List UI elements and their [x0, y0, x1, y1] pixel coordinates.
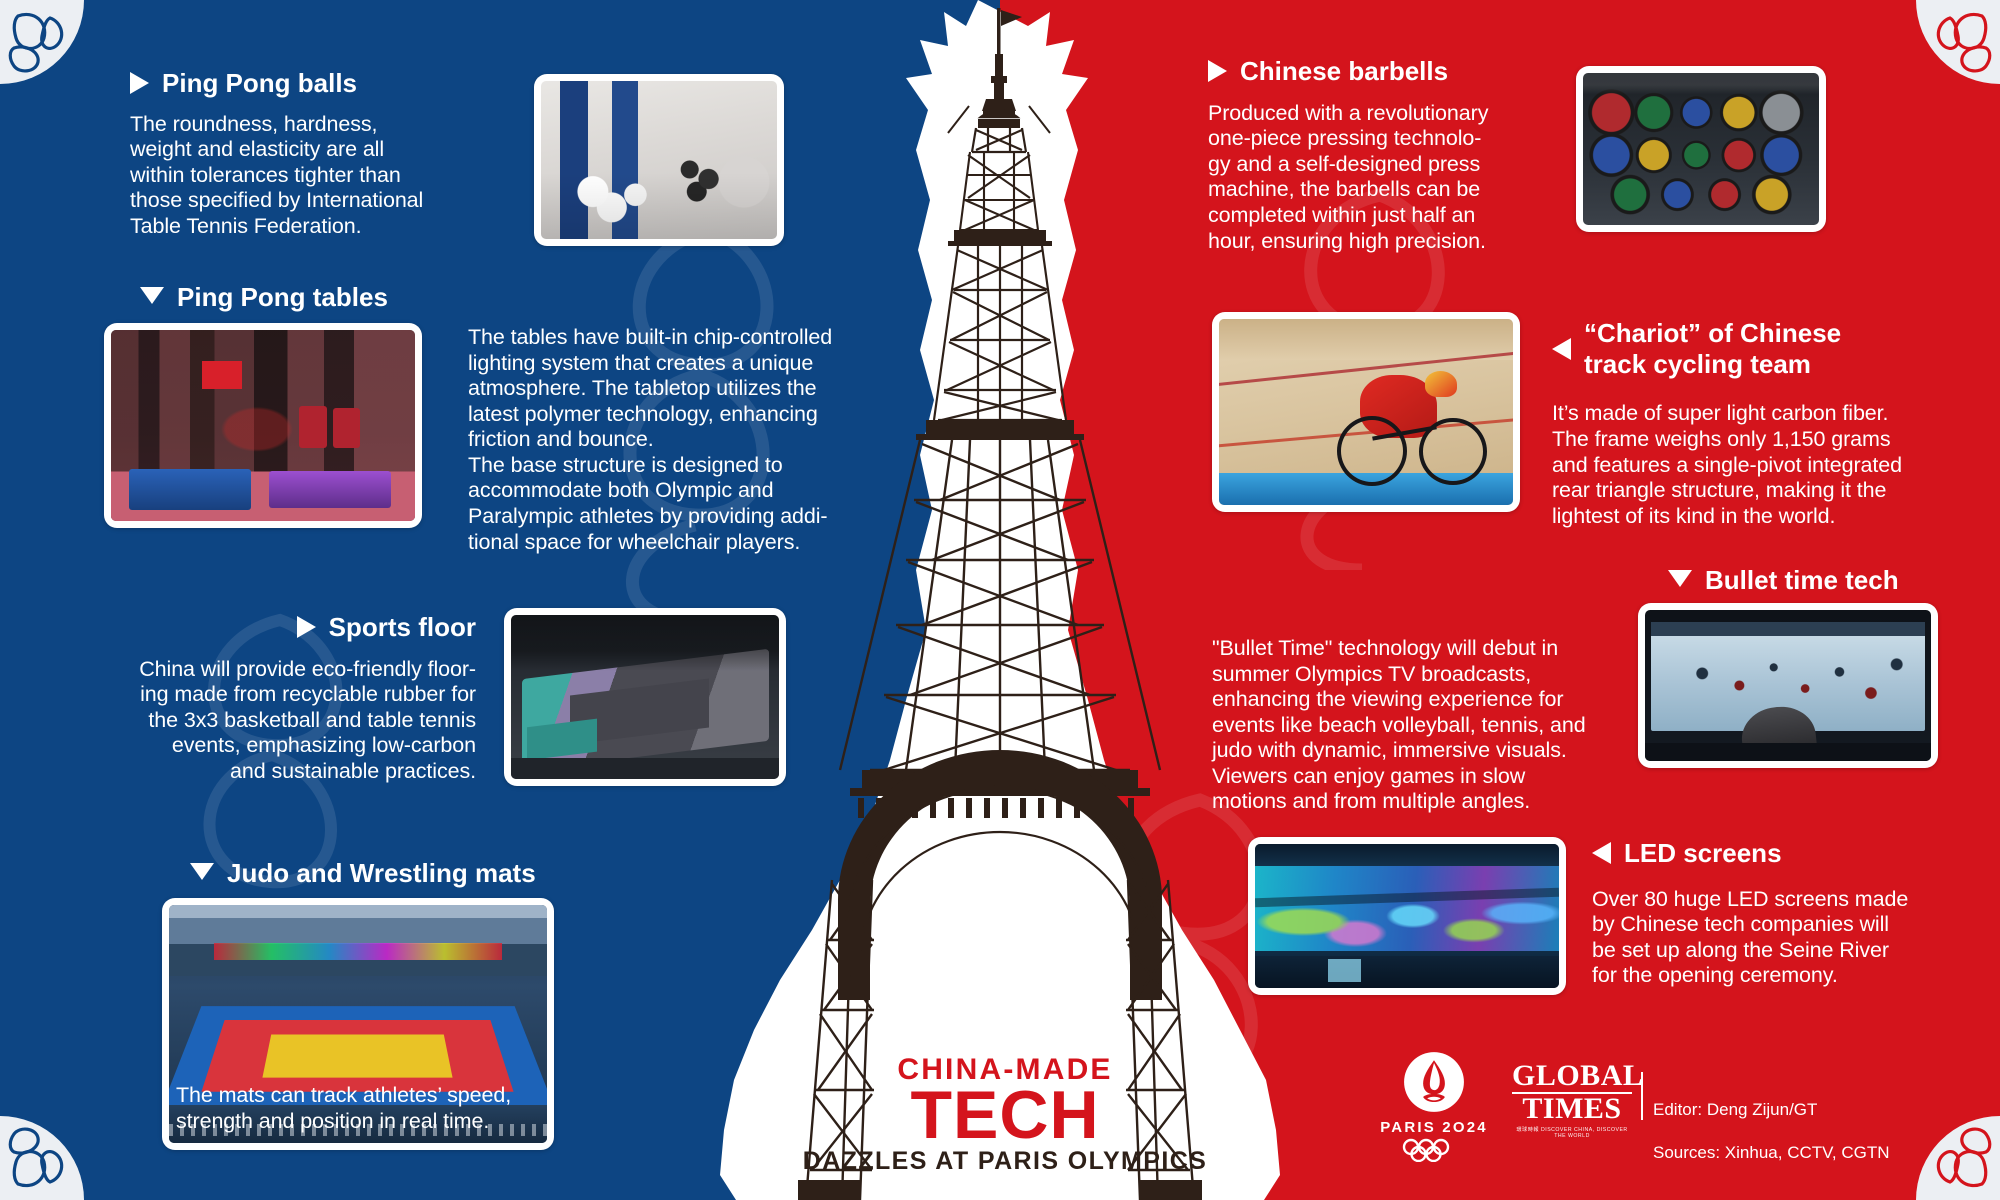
credits-block: Editor: Deng Zijun/GT Sources: Xinhua, C… [1653, 1077, 1890, 1186]
bullet-time-body-wrap: "Bullet Time" technology will debut in s… [1212, 636, 1632, 815]
triangle-left-icon [1592, 842, 1611, 864]
corner-petal-top-left [0, 0, 84, 84]
section-body: The roundness, hardness, weight and elas… [130, 112, 460, 240]
section-body: It’s made of super light carbon fiber. T… [1552, 401, 1912, 529]
triangle-down-icon [1668, 570, 1692, 587]
section-judo-mats: Judo and Wrestling mats [190, 858, 536, 889]
gt-logo-line-2: TIMES [1512, 1095, 1632, 1124]
editor-credit: Editor: Deng Zijun/GT [1653, 1099, 1890, 1121]
section-chinese-barbells: Chinese barbells Produced with a revolut… [1208, 56, 1528, 254]
paris-2024-emblem: PARIS 2O24 [1374, 1048, 1494, 1162]
paris-flame-icon [1400, 1048, 1468, 1116]
section-body: Produced with a revolutionary one-piece … [1208, 101, 1528, 254]
section-ping-pong-balls: Ping Pong balls The roundness, hardness,… [130, 68, 460, 240]
triangle-right-icon [130, 72, 149, 94]
section-body: "Bullet Time" technology will debut in s… [1212, 636, 1632, 815]
triangle-right-icon [297, 616, 316, 638]
section-body: The mats can track athletes’ speed, stre… [176, 1083, 536, 1134]
section-ping-pong-tables: Ping Pong tables [140, 282, 388, 313]
section-chariot: “Chariot” of Chinese track cycling team … [1552, 318, 1912, 529]
corner-petal-bottom-right [1916, 1116, 2000, 1200]
gt-logo-tagline: 環球時報 DISCOVER CHINA, DISCOVER THE WORLD [1512, 1126, 1632, 1139]
section-heading: Bullet time tech [1668, 565, 1899, 596]
section-title: Chinese barbells [1240, 56, 1448, 87]
section-title: Ping Pong tables [177, 282, 388, 313]
ping-pong-tables-body-wrap: The tables have built-in chip-controlled… [468, 325, 888, 555]
photo-bullet-time [1638, 603, 1938, 768]
section-heading: Ping Pong tables [140, 282, 388, 313]
triangle-right-icon [1208, 60, 1227, 82]
photo-led-screens [1248, 837, 1566, 995]
corner-petal-bottom-left [0, 1116, 84, 1200]
photo-ping-pong-balls [534, 74, 784, 246]
triangle-down-icon [140, 287, 164, 304]
section-body: Over 80 huge LED screens made by Chinese… [1592, 887, 1932, 989]
triangle-down-icon [190, 863, 214, 880]
section-heading: Sports floor [92, 612, 476, 643]
headline-line-3: DAZZLES AT PARIS OLYMPICS [790, 1149, 1220, 1174]
section-heading: Ping Pong balls [130, 68, 460, 99]
photo-track-cycling [1212, 312, 1520, 512]
section-heading: LED screens [1592, 838, 1932, 869]
photo-barbells [1576, 66, 1826, 232]
paris-2024-label: PARIS 2O24 [1374, 1119, 1494, 1136]
section-title: Bullet time tech [1705, 565, 1899, 596]
section-body: China will provide eco-friendly floor- i… [92, 657, 476, 785]
headline-block: CHINA-MADE TECH DAZZLES AT PARIS OLYMPIC… [790, 1055, 1220, 1174]
corner-petal-top-right [1916, 0, 2000, 84]
section-heading: Judo and Wrestling mats [190, 858, 536, 889]
gt-logo-line-1: GLOBAL [1512, 1062, 1632, 1091]
section-body: The tables have built-in chip-controlled… [468, 325, 888, 555]
section-title: LED screens [1624, 838, 1782, 869]
section-heading: “Chariot” of Chinese track cycling team [1552, 318, 1912, 379]
section-bullet-time: Bullet time tech [1668, 565, 1899, 596]
section-title: Sports floor [329, 612, 476, 643]
section-title: Judo and Wrestling mats [227, 858, 536, 889]
global-times-logo: GLOBAL TIMES 環球時報 DISCOVER CHINA, DISCOV… [1512, 1062, 1632, 1139]
section-title: “Chariot” of Chinese track cycling team [1584, 318, 1841, 379]
infographic-canvas: Ping Pong balls The roundness, hardness,… [0, 0, 2000, 1200]
section-sports-floor: Sports floor China will provide eco-frie… [92, 612, 476, 785]
photo-sports-floor [504, 608, 786, 786]
photo-ping-pong-table [104, 323, 422, 528]
olympic-rings-icon [1374, 1138, 1494, 1162]
judo-mats-body-wrap: The mats can track athletes’ speed, stre… [176, 1083, 536, 1134]
sources-credit: Sources: Xinhua, CCTV, CGTN [1653, 1142, 1890, 1164]
credits-divider [1641, 1072, 1643, 1120]
triangle-left-icon [1552, 338, 1571, 360]
section-led-screens: LED screens Over 80 huge LED screens mad… [1592, 838, 1932, 989]
headline-line-2: TECH [790, 1083, 1220, 1148]
section-title: Ping Pong balls [162, 68, 357, 99]
section-heading: Chinese barbells [1208, 56, 1528, 87]
